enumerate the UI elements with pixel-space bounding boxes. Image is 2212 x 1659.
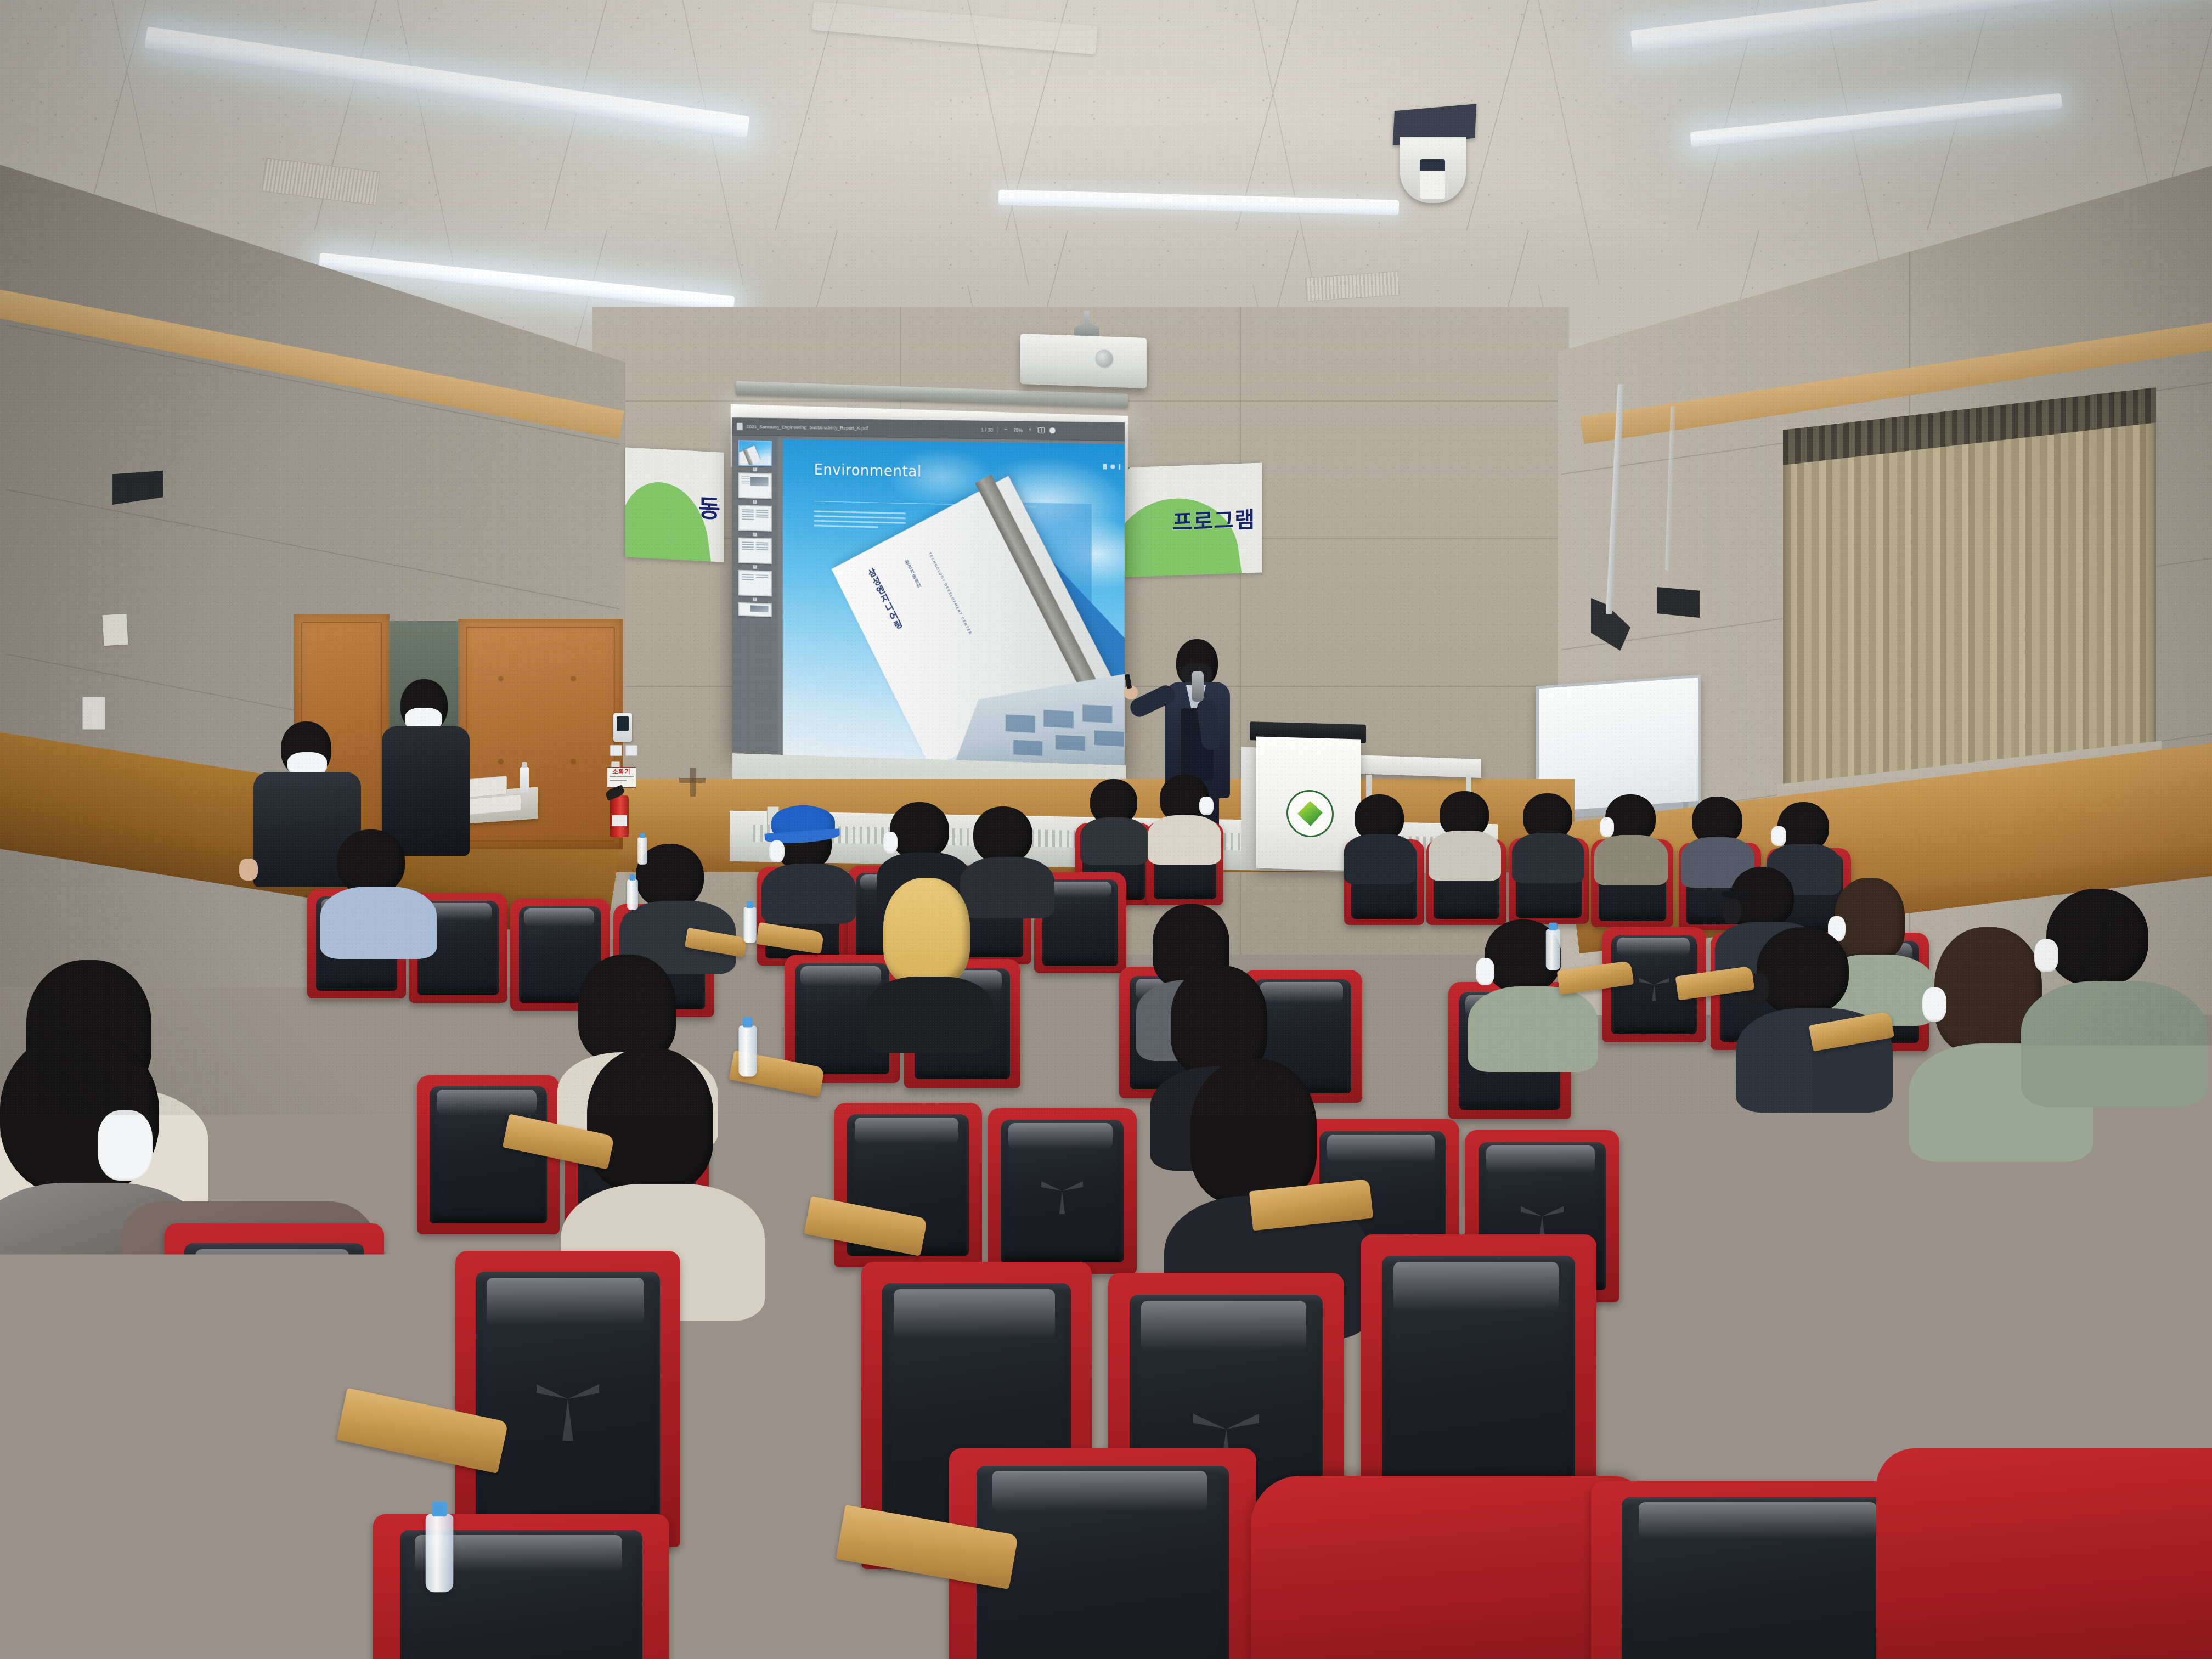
- audience-head: [587, 1048, 713, 1190]
- wall-notice: [103, 614, 128, 646]
- audience-mask: [1199, 797, 1214, 815]
- audience-mask: [98, 1110, 153, 1181]
- audience-head: [1757, 927, 1849, 1015]
- wall-speaker-right: [1657, 587, 1700, 618]
- fire-sign-text: 소화기: [612, 769, 630, 775]
- audience-torso: [2021, 981, 2208, 1107]
- presentation-slide: Environmental 삼성엔지니어링 환경기술센터 TECHNOLOGY …: [783, 439, 1125, 774]
- pdf-thumbnail[interactable]: [738, 570, 772, 597]
- thumbnail-number: 1: [753, 467, 757, 471]
- slide-subtitle-lines: [814, 511, 906, 532]
- audience-torso: [1594, 835, 1668, 885]
- auditorium-seat[interactable]: [373, 1514, 669, 1659]
- staff-hand: [239, 859, 258, 881]
- pdf-side-controls[interactable]: [1103, 464, 1121, 470]
- water-bottle[interactable]: [1546, 929, 1560, 970]
- building-window: [1093, 730, 1125, 747]
- audience-mask: [2034, 939, 2058, 972]
- audience-torso: [761, 864, 856, 924]
- pdf-thumbnail[interactable]: [738, 538, 772, 565]
- audience-head: [973, 806, 1032, 864]
- water-bottle[interactable]: [743, 907, 756, 943]
- pdf-thumbnail[interactable]: [738, 472, 772, 499]
- extinguisher-label: [612, 815, 627, 826]
- audience-member: [1598, 794, 1664, 872]
- thumbnail-number: 2: [753, 500, 757, 504]
- fire-sign-detail: [610, 776, 634, 782]
- audience-mask: [1476, 958, 1494, 985]
- projector-lens: [1095, 349, 1114, 369]
- audience-torso: [1148, 815, 1221, 865]
- card-reader[interactable]: [610, 745, 622, 756]
- building-window: [1055, 735, 1086, 752]
- audience-member: [1745, 927, 1882, 1092]
- pdf-thumbnail[interactable]: [738, 440, 772, 466]
- audience-mask: [883, 832, 898, 854]
- audience-mask: [1723, 899, 1741, 924]
- audience-torso: [1468, 986, 1598, 1072]
- audience-member: [1152, 775, 1217, 851]
- audience-mask: [1600, 817, 1614, 837]
- audience-torso: [1429, 831, 1501, 881]
- fit-page-icon[interactable]: [1038, 427, 1045, 433]
- university-emblem: [1286, 789, 1334, 838]
- brochure-korean-subtitle: 환경기술센터: [902, 558, 923, 590]
- zoom-in-button[interactable]: +: [1027, 427, 1033, 433]
- audience-member: [1515, 793, 1581, 870]
- water-bottle[interactable]: [637, 837, 647, 865]
- audience-torso: [320, 887, 437, 959]
- building-window: [1005, 714, 1036, 733]
- pdf-page-area[interactable]: Environmental 삼성엔지니어링 환경기술센터 TECHNOLOGY …: [778, 436, 1125, 774]
- thumbnail-columns: [742, 541, 769, 560]
- print-icon[interactable]: [1110, 465, 1115, 469]
- audience-head: [2046, 889, 2148, 986]
- ceiling-projector: [1020, 334, 1147, 388]
- audience-member: [1347, 794, 1413, 871]
- zoom-out-button[interactable]: −: [1003, 427, 1009, 433]
- auditorium-seat[interactable]: [0, 1492, 252, 1659]
- hand-sanitizer[interactable]: [520, 767, 529, 792]
- water-bottle[interactable]: [627, 879, 638, 910]
- audience-member-blonde: [872, 878, 998, 1042]
- card-reader[interactable]: [625, 745, 637, 756]
- audience-member: [329, 830, 428, 939]
- seat-cushion[interactable]: [1251, 1476, 1646, 1659]
- seat-cushion[interactable]: [1876, 1448, 2212, 1659]
- event-banner-right: 프로그램: [1119, 462, 1262, 577]
- thumbnail-number: 3: [753, 533, 757, 537]
- brochure-english-subtitle: TECHNOLOGY DEVELOPMENT CENTER: [928, 552, 973, 636]
- banner-text-left: 동: [698, 488, 721, 524]
- auditorium-seat[interactable]: [165, 1223, 384, 1509]
- window-recess: [1783, 387, 2156, 808]
- seat-armrest: [1635, 1324, 1799, 1393]
- audience-member: [1684, 797, 1751, 874]
- banner-text-right: 프로그램: [1172, 502, 1255, 537]
- audience-torso: [1512, 833, 1584, 883]
- slide-title: Environmental: [814, 461, 922, 481]
- audience-mask: [1922, 988, 1946, 1022]
- audience-head: [337, 830, 405, 894]
- ceiling-sensor-tab: [1420, 159, 1445, 199]
- file-icon: [737, 422, 743, 430]
- water-bottle[interactable]: [426, 1514, 454, 1593]
- pdf-toolbar[interactable]: 1 / 30 − 75% +: [981, 426, 1120, 435]
- baseball-cap: [771, 805, 835, 839]
- thumbnail-image: [751, 477, 769, 486]
- eyeglasses: [1722, 891, 1750, 898]
- fire-extinguisher[interactable]: [610, 795, 629, 837]
- projection-screen: 2021_Samsung_Engineering_Sustainability_…: [732, 417, 1125, 774]
- thumbnail-columns: [742, 509, 769, 528]
- audience-member: [1084, 779, 1144, 850]
- audience-torso: [867, 977, 993, 1053]
- toolbar-divider: [998, 426, 998, 433]
- pdf-thumbnail-sidebar[interactable]: 1 2 3: [732, 435, 778, 754]
- audience-torso: [1080, 817, 1148, 865]
- rotate-icon[interactable]: [1049, 427, 1056, 433]
- auditorium-seat[interactable]: [988, 1108, 1137, 1274]
- page-indicator: 1 / 30: [981, 427, 993, 432]
- audience-member: [1174, 1059, 1355, 1295]
- pdf-thumbnail[interactable]: [738, 602, 772, 617]
- pdf-filename: 2021_Samsung_Engineering_Sustainability_…: [747, 424, 977, 432]
- thumbnail-text-lines: [741, 476, 750, 495]
- audience-head: [1190, 1059, 1317, 1204]
- water-bottle[interactable]: [739, 1026, 757, 1077]
- lecture-hall-photo: 동 프로그램 2021_Samsung_Engineering_Sustaina…: [0, 0, 2212, 1659]
- audience-mask: [769, 840, 785, 862]
- wall-outlet: [82, 697, 105, 730]
- audience-torso: [1344, 834, 1416, 884]
- seat-armrest: [1808, 1186, 1944, 1249]
- wall-marker: [679, 778, 706, 783]
- building-window: [1043, 709, 1074, 729]
- pdf-body: 1 2 3: [732, 435, 1125, 774]
- audience-head: [883, 878, 970, 985]
- audience-head: [578, 955, 676, 1062]
- emblem-leaf-icon: [1297, 800, 1323, 826]
- more-options-icon[interactable]: [1119, 464, 1120, 470]
- staff-standing-right: [377, 679, 476, 855]
- building-window: [1082, 704, 1113, 724]
- event-banner-left: 동: [625, 447, 724, 562]
- audience-mask: [1771, 826, 1786, 846]
- download-icon[interactable]: [1103, 464, 1107, 469]
- pdf-thumbnail[interactable]: [738, 505, 772, 531]
- thumbnail-number: 4: [753, 565, 757, 569]
- audience-member-with-cap: [768, 806, 850, 900]
- thumbnail-columns: [742, 574, 769, 593]
- thumbnail-image: [751, 605, 769, 612]
- audience-head: [890, 802, 949, 859]
- building-window: [1013, 739, 1043, 757]
- audience-member: [1432, 791, 1498, 868]
- access-control-panel[interactable]: [613, 713, 632, 742]
- brochure-korean-title: 삼성엔지니어링: [864, 566, 905, 633]
- presenter-microphone: [1192, 671, 1204, 702]
- thumbnail-number: 5: [753, 597, 757, 601]
- zoom-level: 75%: [1013, 427, 1022, 433]
- audience-member: [2030, 889, 2194, 1075]
- pdf-viewer[interactable]: 2021_Samsung_Engineering_Sustainability_…: [732, 417, 1125, 774]
- auditorium-seat[interactable]: [455, 1251, 680, 1547]
- sneaker: [1860, 1366, 1942, 1407]
